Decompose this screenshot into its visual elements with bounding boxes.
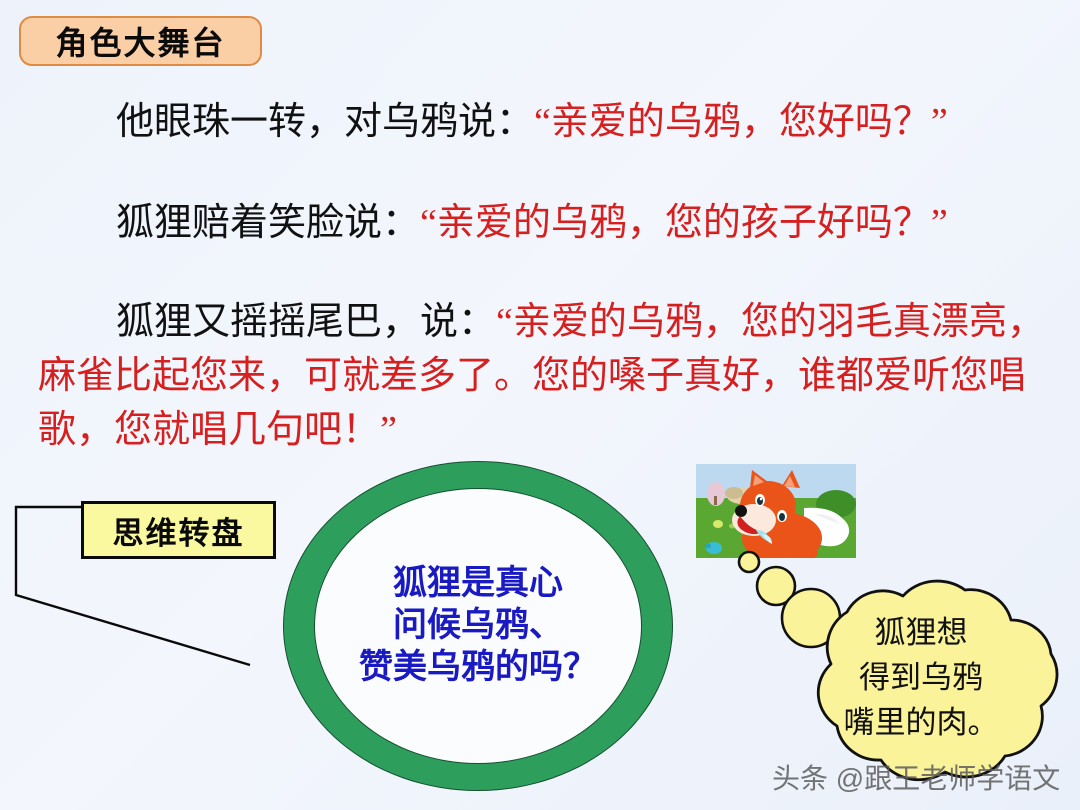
- question-ring-center: 狐狸是真心 问候乌鸦、 赞美乌鸦的吗？: [314, 488, 642, 764]
- watermark-text: 头条 @跟王老师学语文: [772, 757, 1060, 797]
- fox-illustration: [696, 464, 856, 558]
- question-ring: 狐狸是真心 问候乌鸦、 赞美乌鸦的吗？: [283, 461, 673, 791]
- question-line-1: 狐狸是真心: [393, 563, 563, 605]
- dialogue-paragraph-1: 他眼珠一转，对乌鸦说：“亲爱的乌鸦，您好吗？”: [38, 95, 1048, 149]
- question-line-3: 赞美乌鸦的吗？: [359, 647, 597, 689]
- paragraph-3-narration: 狐狸又摇摇尾巴，说：: [116, 301, 496, 343]
- paragraph-2-narration: 狐狸赔着笑脸说：: [116, 202, 420, 244]
- paragraph-1-quote: “亲爱的乌鸦，您好吗？”: [534, 101, 948, 143]
- thought-line-3: 嘴里的肉。: [801, 700, 1041, 745]
- question-line-2: 问候乌鸦、: [393, 605, 563, 647]
- paragraph-1-narration: 他眼珠一转，对乌鸦说：: [116, 101, 534, 143]
- thought-bubble-text: 狐狸想 得到乌鸦 嘴里的肉。: [801, 610, 1041, 745]
- thinking-wheel-label-text: 思维转盘: [113, 508, 245, 553]
- page-title-text: 角色大舞台: [55, 18, 225, 64]
- thought-line-1: 狐狸想: [801, 610, 1041, 655]
- page-title-badge: 角色大舞台: [19, 16, 262, 66]
- slide-canvas: 角色大舞台 他眼珠一转，对乌鸦说：“亲爱的乌鸦，您好吗？” 狐狸赔着笑脸说：“亲…: [0, 0, 1080, 810]
- fox-illustration-svg: [696, 464, 856, 558]
- dialogue-paragraph-3: 狐狸又摇摇尾巴，说：“亲爱的乌鸦，您的羽毛真漂亮，麻雀比起您来，可就差多了。您的…: [38, 295, 1058, 457]
- thinking-wheel-label-box: 思维转盘: [81, 501, 276, 559]
- thought-line-2: 得到乌鸦: [801, 655, 1041, 700]
- dialogue-paragraph-2: 狐狸赔着笑脸说：“亲爱的乌鸦，您的孩子好吗？”: [38, 196, 1048, 250]
- paragraph-2-quote: “亲爱的乌鸦，您的孩子好吗？”: [420, 202, 948, 244]
